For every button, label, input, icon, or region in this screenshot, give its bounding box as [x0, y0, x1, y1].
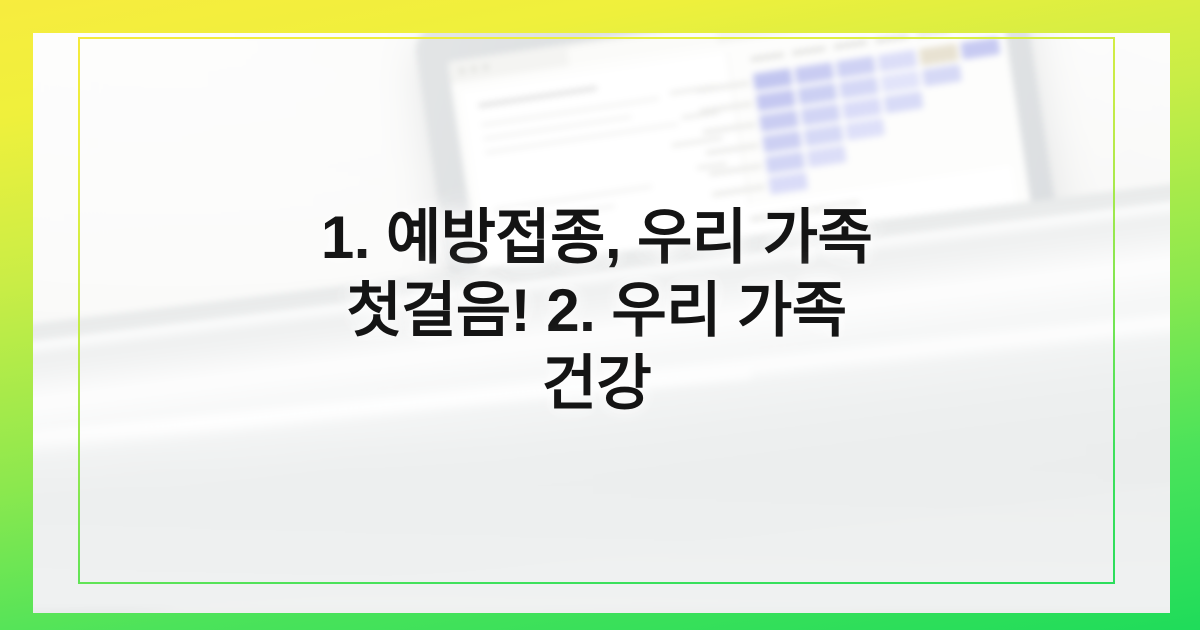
headline-container: 1. 예방접종, 우리 가족 첫걸음! 2. 우리 가족 건강	[78, 37, 1115, 584]
page-title: 1. 예방접종, 우리 가족 첫걸음! 2. 우리 가족 건강	[317, 201, 877, 421]
thumbnail-card: 1. 예방접종, 우리 가족 첫걸음! 2. 우리 가족 건강	[0, 0, 1200, 630]
